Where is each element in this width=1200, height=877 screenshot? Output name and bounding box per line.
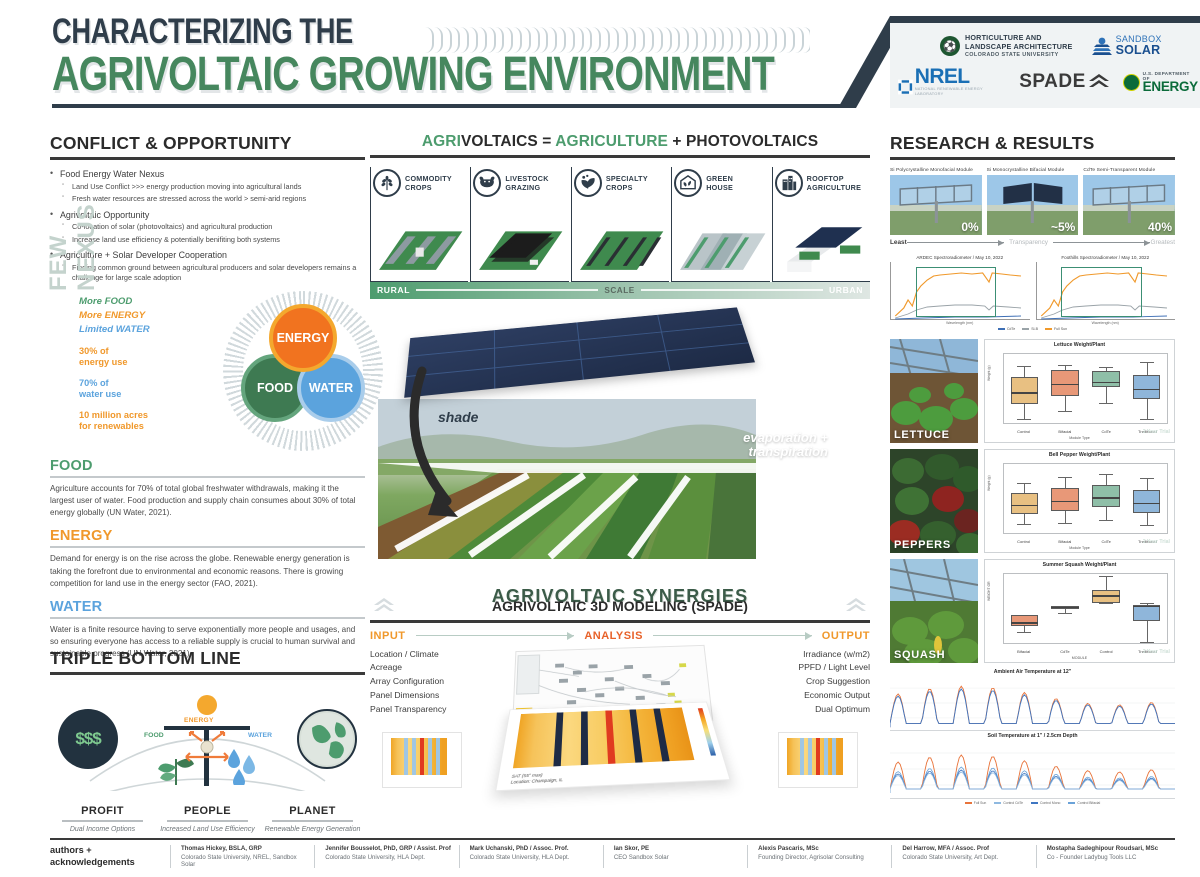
temperature-charts: Ambient Air Temperature at 12"Soil Tempe… bbox=[890, 669, 1175, 799]
typology-label-line2: GRAZING bbox=[505, 183, 540, 192]
box-plot-area bbox=[1003, 573, 1168, 644]
box-plot-category-label: CdTe bbox=[1044, 649, 1085, 654]
module-caption: Si Monocrystalline Bifacial Module bbox=[987, 168, 1079, 173]
author-name: Thomas Hickey, BSLA, GRP bbox=[181, 845, 309, 852]
synergy-illustration: shade evaporation + transpiration AGRIVO… bbox=[370, 313, 870, 603]
right-column: RESEARCH & RESULTS Si Polycrystalline Mo… bbox=[890, 133, 1175, 805]
median-line bbox=[1051, 501, 1079, 502]
whisker-cap-lower bbox=[1140, 642, 1154, 643]
spectra-plot bbox=[1036, 262, 1176, 320]
box-plot-title: Lettuce Weight/Plant bbox=[985, 342, 1174, 348]
greenhouse-icon bbox=[674, 169, 702, 197]
scale-center-label: SCALE bbox=[604, 286, 634, 295]
spectra-chart-row: ARDEC Spectroradiometer / May 10, 2022Wa… bbox=[890, 255, 1175, 325]
input-item: Acreage bbox=[370, 661, 500, 675]
module-photo-card: CdTe Semi-Transparent Module40% bbox=[1083, 168, 1175, 235]
temperature-chart: Soil Temperature at 1" / 2.5cm Depth bbox=[890, 733, 1175, 799]
box-rect bbox=[1133, 375, 1161, 399]
output-item: Irradiance (w/m2) bbox=[740, 648, 870, 662]
whisker-cap-lower bbox=[1017, 632, 1031, 633]
agrivoltaics-equation: AGRIVOLTAICS = AGRICULTURE + PHOTOVOLTAI… bbox=[370, 133, 870, 151]
module-photo: ~5% bbox=[987, 175, 1079, 235]
whisker-cap-lower bbox=[1058, 523, 1072, 524]
chevron-tick bbox=[451, 27, 460, 53]
thumb-bar-4 bbox=[428, 738, 432, 775]
csu-logo-sub: COLORADO STATE UNIVERSITY bbox=[965, 52, 1073, 58]
modeling-rule bbox=[370, 620, 870, 623]
whisker-cap-upper bbox=[1017, 483, 1031, 484]
thumb2-bar-1 bbox=[800, 738, 804, 775]
doe-seal-icon bbox=[1123, 74, 1140, 91]
triple-column-caption: Renewable Energy Generation bbox=[260, 825, 365, 835]
legend-label: Control Bifacial bbox=[1077, 801, 1100, 805]
crop-results-rows: LETTUCELettuce Weight/PlantWeight (g)Con… bbox=[890, 339, 1175, 663]
spectroradiometer-chart: Foothills Spectroradiometer / May 10, 20… bbox=[1036, 255, 1176, 325]
doe-logo-line2: ENERGY bbox=[1143, 81, 1198, 94]
box-plot-box bbox=[1051, 574, 1079, 643]
whisker-cap-lower bbox=[1140, 419, 1154, 420]
chevron-tick bbox=[425, 27, 434, 53]
modeling-title-bold: AGRIVOLTAIC 3D MODELING ( bbox=[492, 598, 696, 614]
legend-swatch bbox=[994, 802, 1001, 804]
triple-graphic: $$$ ENERGY FOOD WATER bbox=[50, 687, 365, 802]
author-entry: Alexis Pascaris, MScFounding Director, A… bbox=[747, 845, 886, 868]
whisker-upper bbox=[1024, 366, 1025, 378]
nrel-logo: NREL NATIONAL RENEWABLE ENERGY LABORATOR… bbox=[898, 68, 1005, 96]
temperature-legend-item: Control Mono bbox=[1031, 801, 1060, 805]
exchange-arrows-icon bbox=[178, 731, 236, 773]
typology-card[interactable]: ROOFTOPAGRICULTURE bbox=[772, 167, 870, 282]
box-plot-area bbox=[1003, 353, 1168, 424]
spectra-title: ARDEC Spectroradiometer / May 10, 2022 bbox=[890, 255, 1030, 260]
definition-rule bbox=[50, 546, 365, 548]
box-plot-ylabel: WEIGHT GR bbox=[987, 581, 991, 601]
typology-card-label: GREENHOUSE bbox=[706, 174, 733, 192]
legend-label: Control Mono bbox=[1040, 801, 1060, 805]
module-transparency-pct: 0% bbox=[961, 220, 978, 234]
whisker-upper bbox=[1024, 483, 1025, 493]
temperature-plot bbox=[890, 675, 1175, 731]
few-more-food: More FOOD bbox=[79, 295, 209, 309]
legend-swatch bbox=[998, 328, 1005, 330]
temperature-legend: Full SunControl CdTeControl MonoControl … bbox=[890, 801, 1175, 805]
spectra-legend-item: Full Sun bbox=[1045, 327, 1067, 331]
typology-label-line2: CROPS bbox=[606, 183, 633, 192]
triple-column-rule bbox=[272, 820, 353, 822]
median-line bbox=[1092, 497, 1120, 498]
box-plot-box bbox=[1011, 574, 1039, 643]
spectra-par-region bbox=[916, 267, 996, 317]
box-plot-chart: Lettuce Weight/PlantWeight (g)ControlBif… bbox=[984, 339, 1175, 443]
chevron-tick bbox=[680, 27, 689, 53]
few-stat1-line2: energy use bbox=[79, 357, 209, 369]
author-name: Alexis Pascaris, MSc bbox=[758, 845, 886, 852]
whisker-cap-lower bbox=[1140, 525, 1154, 526]
scale-bar: RURAL SCALE URBAN bbox=[370, 282, 870, 299]
conflict-section-title: CONFLICT & OPPORTUNITY bbox=[50, 133, 365, 154]
box-plot-ylabel: Weight (g) bbox=[987, 475, 991, 491]
irradiance-heatmap-sheet: SAT (55° max) Location: Champaign, IL bbox=[495, 701, 731, 791]
triple-column-caption: Dual Income Options bbox=[50, 825, 155, 835]
whisker-upper bbox=[1147, 362, 1148, 375]
heatmap-panel-bar-4 bbox=[629, 709, 642, 762]
definition-rule bbox=[50, 476, 365, 478]
triple-column-rule bbox=[167, 820, 248, 822]
box-plot-chart: Bell Pepper Weight/PlantWeight (g)Contro… bbox=[984, 449, 1175, 553]
modeling-title-row: AGRIVOLTAIC 3D MODELING (SPADE) bbox=[370, 598, 870, 616]
heatmap-panel-bar-1 bbox=[553, 712, 563, 766]
legend-swatch bbox=[1045, 328, 1052, 330]
spectra-par-region bbox=[1061, 267, 1141, 317]
crop-photo: PEPPERS bbox=[890, 449, 978, 553]
scale-left-label: RURAL bbox=[377, 285, 410, 295]
arrow-input-to-analysis bbox=[416, 635, 575, 637]
input-item: Panel Dimensions bbox=[370, 689, 500, 703]
triple-column-name: PLANET bbox=[260, 805, 365, 817]
whisker-cap-lower bbox=[1099, 403, 1113, 404]
sun-icon bbox=[197, 695, 217, 715]
author-affiliation: CEO Sandbox Solar bbox=[614, 854, 742, 861]
author-affiliation: Colorado State University, HLA Dept. bbox=[325, 854, 453, 861]
whisker-cap-upper bbox=[1099, 367, 1113, 368]
chevron-tick bbox=[759, 27, 768, 53]
thumb-bar-3 bbox=[420, 738, 424, 775]
author-affiliation: Colorado State University, NREL, Sandbox… bbox=[181, 854, 309, 868]
scale-line-left bbox=[416, 289, 598, 291]
typology-card-illustration bbox=[475, 211, 566, 277]
whisker-lower bbox=[1106, 507, 1107, 520]
typology-card-illustration bbox=[375, 211, 466, 277]
poster-root: CHARACTERIZING THE AGRIVOLTAIC GROWING E… bbox=[0, 0, 1200, 877]
chevron-tick bbox=[575, 27, 584, 53]
typology-label-line1: SPECIALTY bbox=[606, 174, 648, 183]
whisker-cap-lower bbox=[1017, 419, 1031, 420]
author-entry: Mark Uchanski, PhD / Assoc. Prof.Colorad… bbox=[459, 845, 598, 868]
whisker-cap-lower bbox=[1099, 520, 1113, 521]
leaf-icon bbox=[574, 169, 602, 197]
chevron-tick bbox=[768, 27, 777, 53]
heatmap-colorbar bbox=[698, 708, 716, 756]
box-plot-category-label: Control bbox=[1003, 429, 1044, 434]
chevron-tick bbox=[724, 27, 733, 53]
thumb2-bar-3 bbox=[816, 738, 820, 775]
author-name: Del Harrow, MFA / Assoc. Prof bbox=[902, 845, 1030, 852]
median-line bbox=[1133, 389, 1161, 390]
crop-photo-label: LETTUCE bbox=[894, 429, 950, 441]
box-rect bbox=[1133, 490, 1161, 512]
module-photo: 0% bbox=[890, 175, 982, 235]
legend-label: Control CdTe bbox=[1003, 801, 1023, 805]
chevron-tick bbox=[548, 27, 557, 53]
triple-bottom-line-block: TRIPLE BOTTOM LINE $$$ ENERGY bbox=[50, 648, 365, 834]
sandbox-sun-icon bbox=[1091, 35, 1113, 57]
temperature-plot bbox=[890, 739, 1175, 799]
thumb2-bar-4 bbox=[824, 738, 828, 775]
triple-column-name: PROFIT bbox=[50, 805, 155, 817]
definition-rule bbox=[50, 617, 365, 619]
whisker-cap-lower bbox=[1058, 411, 1072, 412]
median-line bbox=[1011, 505, 1039, 506]
shade-arrow-icon bbox=[402, 365, 492, 535]
definition-heading: WATER bbox=[50, 599, 365, 615]
chevron-tick bbox=[698, 27, 707, 53]
spectra-plot bbox=[890, 262, 1030, 320]
footer-rule bbox=[50, 838, 1175, 840]
chevron-tick bbox=[715, 27, 724, 53]
equation-rule bbox=[370, 155, 870, 158]
chevron-band-decoration bbox=[425, 27, 810, 53]
whisker-upper bbox=[1147, 478, 1148, 490]
header-rule bbox=[52, 104, 842, 108]
box-rect bbox=[1092, 485, 1120, 506]
nrel-sublabel: NATIONAL RENEWABLE ENERGY LABORATORY bbox=[915, 86, 1005, 96]
box-rect bbox=[1011, 615, 1039, 626]
median-line bbox=[1011, 392, 1039, 393]
cow-icon bbox=[473, 169, 501, 197]
legend-label: Full Sun bbox=[1054, 327, 1067, 331]
box-rect bbox=[1011, 493, 1039, 513]
chevron-tick bbox=[627, 27, 636, 53]
whisker-lower bbox=[1147, 399, 1148, 419]
spade-chevron-icon-left bbox=[374, 598, 394, 616]
triple-energy-label: ENERGY bbox=[184, 717, 214, 724]
temperature-legend-item: Full Sun bbox=[965, 801, 986, 805]
whisker-cap-lower bbox=[1099, 603, 1113, 604]
equation-part-agriculture: AGRICULTURE bbox=[555, 133, 668, 150]
box-plot-box bbox=[1051, 464, 1079, 533]
triple-section-title: TRIPLE BOTTOM LINE bbox=[50, 648, 365, 669]
whisker-cap-upper bbox=[1099, 474, 1113, 475]
chevron-tick bbox=[601, 27, 610, 53]
whisker-lower bbox=[1106, 387, 1107, 402]
header-top-strip bbox=[890, 16, 1200, 23]
sandbox-solar-logo: SANDBOX SOLAR bbox=[1091, 35, 1162, 57]
poster-title-line2: AGRIVOLTAIC GROWING ENVIRONMENT bbox=[52, 51, 774, 100]
equation-part-photovoltaics: + PHOTOVOLTAICS bbox=[668, 133, 818, 150]
chevron-tick bbox=[742, 27, 751, 53]
chevron-tick bbox=[654, 27, 663, 53]
median-line bbox=[1133, 606, 1161, 607]
transparency-label: Transparency bbox=[1004, 239, 1053, 246]
chevron-tick bbox=[663, 27, 672, 53]
wheat-icon bbox=[373, 169, 401, 197]
few-stat2-line1: 70% of bbox=[79, 378, 209, 390]
typology-card-label: COMMODITYCROPS bbox=[405, 174, 452, 192]
legend-swatch bbox=[1022, 328, 1029, 330]
typology-label-line1: COMMODITY bbox=[405, 174, 452, 183]
input-item: Panel Transparency bbox=[370, 703, 500, 717]
author-affiliation: Colorado State University, Art Dept. bbox=[902, 854, 1030, 861]
whisker-cap-upper bbox=[1140, 478, 1154, 479]
people-diagram: ENERGY FOOD WATER bbox=[142, 695, 272, 787]
module-photo-card: Si Polycrystalline Monofacial Module0% bbox=[890, 168, 982, 235]
few-stat1-line1: 30% of bbox=[79, 346, 209, 358]
chevron-tick bbox=[786, 27, 795, 53]
typology-card[interactable]: GREENHOUSE bbox=[671, 167, 769, 282]
output-thumbnail-chart bbox=[778, 732, 858, 788]
box-plot-category-label: Bifacial bbox=[1044, 539, 1085, 544]
author-name: Ian Skor, PE bbox=[614, 845, 742, 852]
box-plot-category-label: CdTe bbox=[1086, 429, 1127, 434]
whisker-upper bbox=[1106, 576, 1107, 590]
typology-card-label: ROOFTOPAGRICULTURE bbox=[807, 174, 862, 192]
transparency-least-label: Least bbox=[890, 239, 907, 246]
output-item: Dual Optimum bbox=[740, 703, 870, 717]
chevron-tick bbox=[592, 27, 601, 53]
typology-label-line2: HOUSE bbox=[706, 183, 733, 192]
input-item: Location / Climate bbox=[370, 648, 500, 662]
box-plot-box bbox=[1133, 464, 1161, 533]
spectroradiometer-chart: ARDEC Spectroradiometer / May 10, 2022Wa… bbox=[890, 255, 1030, 325]
doe-logo: U.S. DEPARTMENT OF ENERGY bbox=[1123, 71, 1198, 94]
typology-label-line2: AGRICULTURE bbox=[807, 183, 862, 192]
sandbox-logo-line2: SOLAR bbox=[1116, 44, 1162, 57]
whisker-cap-lower bbox=[1017, 524, 1031, 525]
whisker-cap-lower bbox=[1058, 613, 1072, 614]
definitions-block: FOODAgriculture accounts for 70% of tota… bbox=[50, 458, 365, 669]
crop-photo: SQUASH bbox=[890, 559, 978, 663]
chevron-tick bbox=[619, 27, 628, 53]
heatmap-surface bbox=[513, 707, 694, 768]
chevron-tick bbox=[522, 27, 531, 53]
chevron-tick bbox=[671, 27, 680, 53]
median-line bbox=[1092, 595, 1120, 596]
spectra-xlabel: Wavelength (nm) bbox=[890, 321, 1030, 325]
temperature-legend-item: Control CdTe bbox=[994, 801, 1023, 805]
few-nexus-block: FEW NEXUS More FOOD More ENERGY Limited … bbox=[45, 285, 365, 460]
author-affiliation: Colorado State University, HLA Dept. bbox=[470, 854, 598, 861]
typology-card[interactable]: LIVESTOCKGRAZING bbox=[470, 167, 568, 282]
globe-icon bbox=[299, 711, 355, 767]
modeling-section: AGRIVOLTAIC 3D MODELING (SPADE) INPUT AN… bbox=[370, 598, 870, 798]
author-entry: Jennifer Bousselot, PhD, GRP / Assist. P… bbox=[314, 845, 453, 868]
box-rect bbox=[1133, 605, 1161, 621]
output-item: Economic Output bbox=[740, 689, 870, 703]
typology-card-illustration bbox=[576, 211, 667, 277]
heatmap-caption: SAT (55° max) Location: Champaign, IL bbox=[510, 771, 563, 785]
thumb-bar-5 bbox=[436, 738, 440, 775]
chevron-tick bbox=[733, 27, 742, 53]
box-plot-category-label: Bifacial bbox=[1003, 649, 1044, 654]
few-venn-diagram: FOOD WATER ENERGY bbox=[215, 287, 390, 455]
box-rect bbox=[1092, 371, 1120, 387]
csu-logo: ⚽ HORTICULTURE AND LANDSCAPE ARCHITECTUR… bbox=[940, 34, 1073, 58]
chevron-tick bbox=[583, 27, 592, 53]
triple-column-caption: Increased Land Use Efficiency bbox=[155, 825, 260, 835]
trial-watermark: 2 Year Trial bbox=[1143, 539, 1170, 545]
crop-result-row: SQUASHSummer Squash Weight/PlantWEIGHT G… bbox=[890, 559, 1175, 663]
typology-label-line1: GREEN bbox=[706, 174, 733, 183]
chevron-tick bbox=[443, 27, 452, 53]
analysis-graphic: SAT (55° max) Location: Champaign, IL bbox=[500, 648, 740, 798]
definition-block: FOODAgriculture accounts for 70% of tota… bbox=[50, 458, 365, 519]
typology-card[interactable]: SPECIALTYCROPS bbox=[571, 167, 669, 282]
spectra-legend: CdTeSi-BFull Sun bbox=[890, 327, 1175, 331]
whisker-lower bbox=[1147, 513, 1148, 526]
output-label: OUTPUT bbox=[822, 630, 870, 642]
triple-column: PEOPLEIncreased Land Use Efficiency bbox=[155, 805, 260, 834]
logo-group: ⚽ HORTICULTURE AND LANDSCAPE ARCHITECTUR… bbox=[898, 28, 1198, 104]
module-transparency-pct: ~5% bbox=[1051, 220, 1075, 234]
legend-swatch bbox=[965, 802, 972, 804]
triple-columns: PROFITDual Income OptionsPEOPLEIncreased… bbox=[50, 805, 365, 834]
evapotranspiration-label: evaporation + transpiration bbox=[743, 431, 828, 461]
median-line bbox=[1051, 384, 1079, 385]
trial-watermark: 2 Year Trial bbox=[1143, 429, 1170, 435]
footer-title-line1: authors + bbox=[50, 845, 165, 857]
csu-logo-line2: LANDSCAPE ARCHITECTURE bbox=[965, 43, 1073, 52]
poster-footer: authors + acknowledgements Thomas Hickey… bbox=[50, 838, 1175, 868]
author-entry: Thomas Hickey, BSLA, GRPColorado State U… bbox=[170, 845, 309, 868]
box-plot-ylabel: Weight (g) bbox=[987, 365, 991, 381]
input-thumbnail-chart bbox=[382, 732, 462, 788]
box-plot-category-label: CdTe bbox=[1086, 539, 1127, 544]
typology-label-line1: LIVESTOCK bbox=[505, 174, 548, 183]
triple-column-rule bbox=[62, 820, 143, 822]
triple-column: PROFITDual Income Options bbox=[50, 805, 155, 834]
whisker-cap-upper bbox=[1058, 365, 1072, 366]
whisker-lower bbox=[1065, 396, 1066, 412]
legend-label: CdTe bbox=[1007, 327, 1015, 331]
legend-swatch bbox=[1068, 802, 1075, 804]
triple-column-name: PEOPLE bbox=[155, 805, 260, 817]
few-limited-water: Limited WATER bbox=[79, 323, 209, 337]
chevron-tick bbox=[645, 27, 654, 53]
few-stat2-line2: water use bbox=[79, 389, 209, 401]
scale-right-label: URBAN bbox=[829, 285, 863, 295]
box-plot-xlabel: MODULE bbox=[985, 656, 1174, 660]
box-plot-box bbox=[1092, 464, 1120, 533]
whisker-cap-upper bbox=[1099, 576, 1113, 577]
chevron-tick bbox=[636, 27, 645, 53]
whisker-upper bbox=[1065, 477, 1066, 489]
footer-title-line2: acknowledgements bbox=[50, 857, 165, 869]
thumb-bar-2 bbox=[412, 738, 416, 775]
chevron-tick bbox=[610, 27, 619, 53]
input-item: Array Configuration bbox=[370, 675, 500, 689]
box-plot-xlabel: Module Type bbox=[985, 546, 1174, 550]
input-label: INPUT bbox=[370, 630, 406, 642]
typology-card[interactable]: COMMODITYCROPS bbox=[370, 167, 468, 282]
heatmap-panel-bar-2 bbox=[581, 711, 588, 765]
module-caption: Si Polycrystalline Monofacial Module bbox=[890, 168, 982, 173]
spade-chevron-icon-right bbox=[846, 598, 866, 616]
typology-card-label: LIVESTOCKGRAZING bbox=[505, 174, 548, 192]
crop-result-row: PEPPERSBell Pepper Weight/PlantWeight (g… bbox=[890, 449, 1175, 553]
triple-food-label: FOOD bbox=[144, 732, 164, 739]
crop-photo: LETTUCE bbox=[890, 339, 978, 443]
legend-label: Si-B bbox=[1031, 327, 1038, 331]
chevron-tick bbox=[504, 27, 513, 53]
few-nexus-text: More FOOD More ENERGY Limited WATER 30% … bbox=[79, 295, 209, 433]
whisker-upper bbox=[1106, 474, 1107, 486]
whisker-cap-upper bbox=[1140, 362, 1154, 363]
temperature-legend-item: Control Bifacial bbox=[1068, 801, 1100, 805]
trial-watermark: 2 Year Trial bbox=[1143, 649, 1170, 655]
box-plot-box bbox=[1133, 574, 1161, 643]
whisker-lower bbox=[1065, 511, 1066, 523]
chevron-tick bbox=[777, 27, 786, 53]
output-item: PPFD / Light Level bbox=[740, 661, 870, 675]
whisker-cap-upper bbox=[1058, 477, 1072, 478]
chevron-tick bbox=[460, 27, 469, 53]
box-plot-box bbox=[1133, 354, 1161, 423]
transparency-scale-row: Least Transparency Greatest bbox=[890, 239, 1175, 246]
spade-wordmark: SPADE bbox=[1019, 71, 1086, 93]
triple-water-label: WATER bbox=[248, 732, 272, 739]
shade-label: shade bbox=[438, 409, 478, 425]
temperature-chart: Ambient Air Temperature at 12" bbox=[890, 669, 1175, 731]
